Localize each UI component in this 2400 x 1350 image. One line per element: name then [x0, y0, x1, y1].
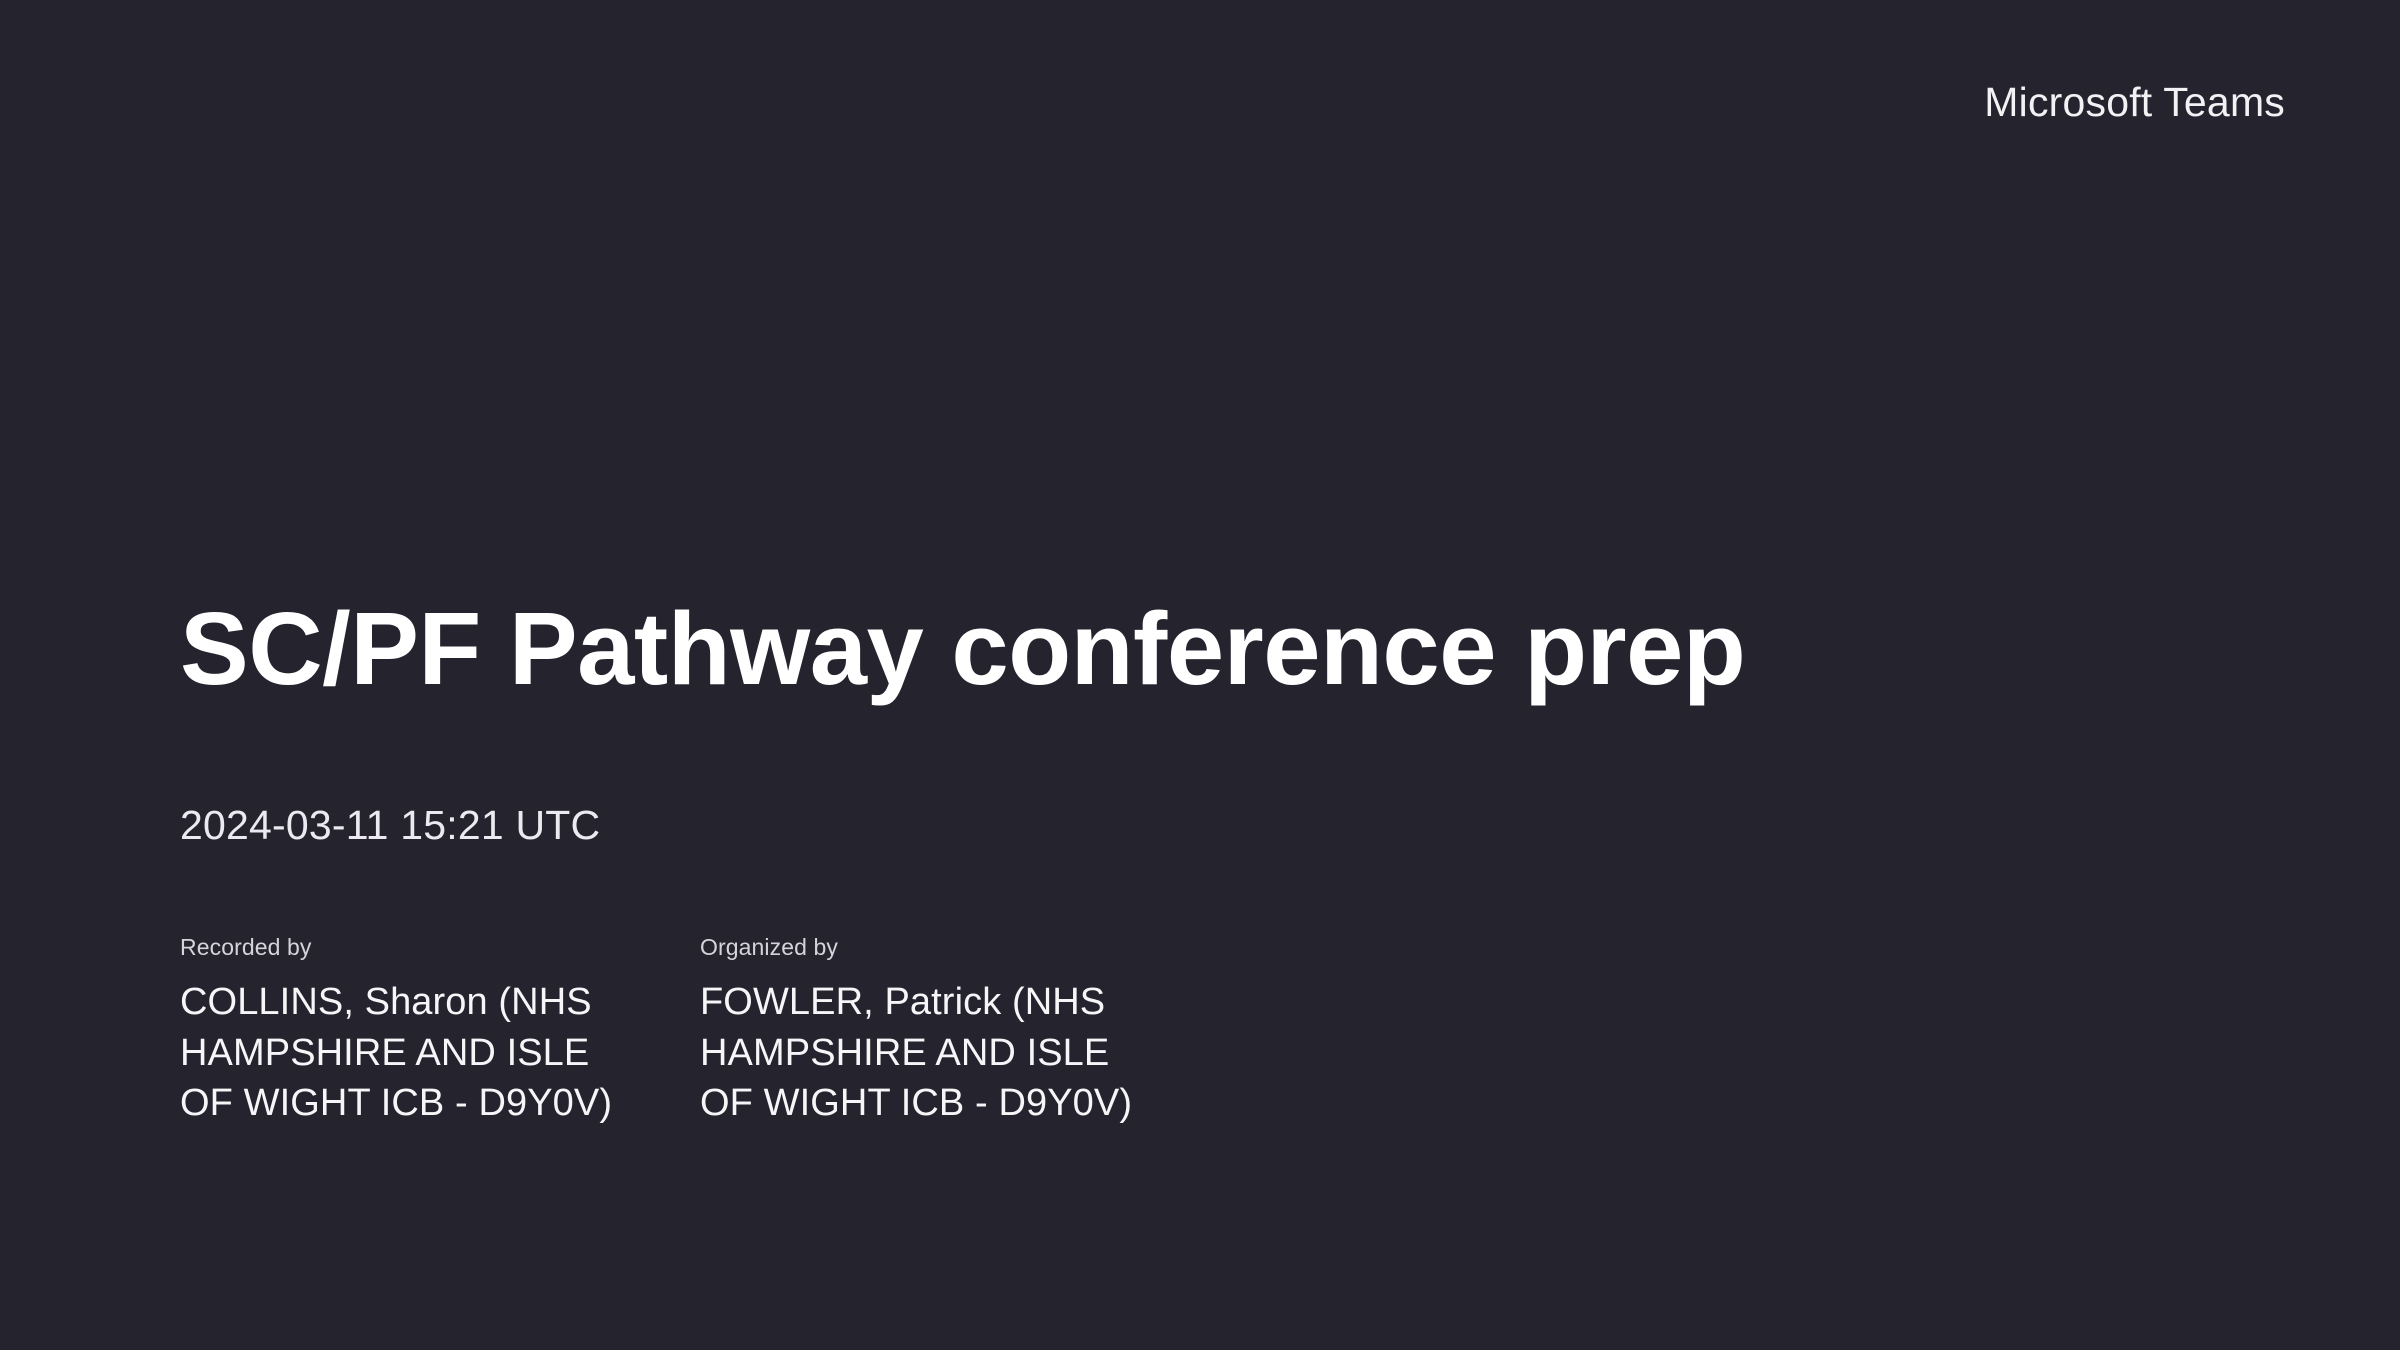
organized-by-column: Organized by FOWLER, Patrick (NHS HAMPSH…	[700, 936, 1220, 1129]
organized-by-value: FOWLER, Patrick (NHS HAMPSHIRE AND ISLE …	[700, 977, 1170, 1129]
microsoft-teams-brand-label: Microsoft Teams	[1984, 82, 2285, 123]
meeting-title: SC/PF Pathway conference prep	[180, 590, 2280, 707]
recorded-by-value: COLLINS, Sharon (NHS HAMPSHIRE AND ISLE …	[180, 977, 650, 1129]
meeting-metadata-row: Recorded by COLLINS, Sharon (NHS HAMPSHI…	[180, 936, 2280, 1129]
recorded-by-label: Recorded by	[180, 936, 700, 959]
meeting-timestamp: 2024-03-11 15:21 UTC	[180, 805, 2280, 846]
organized-by-label: Organized by	[700, 936, 1220, 959]
title-card-content: SC/PF Pathway conference prep 2024-03-11…	[180, 590, 2280, 1129]
recorded-by-column: Recorded by COLLINS, Sharon (NHS HAMPSHI…	[180, 936, 700, 1129]
recording-title-card: Microsoft Teams SC/PF Pathway conference…	[0, 0, 2400, 1350]
